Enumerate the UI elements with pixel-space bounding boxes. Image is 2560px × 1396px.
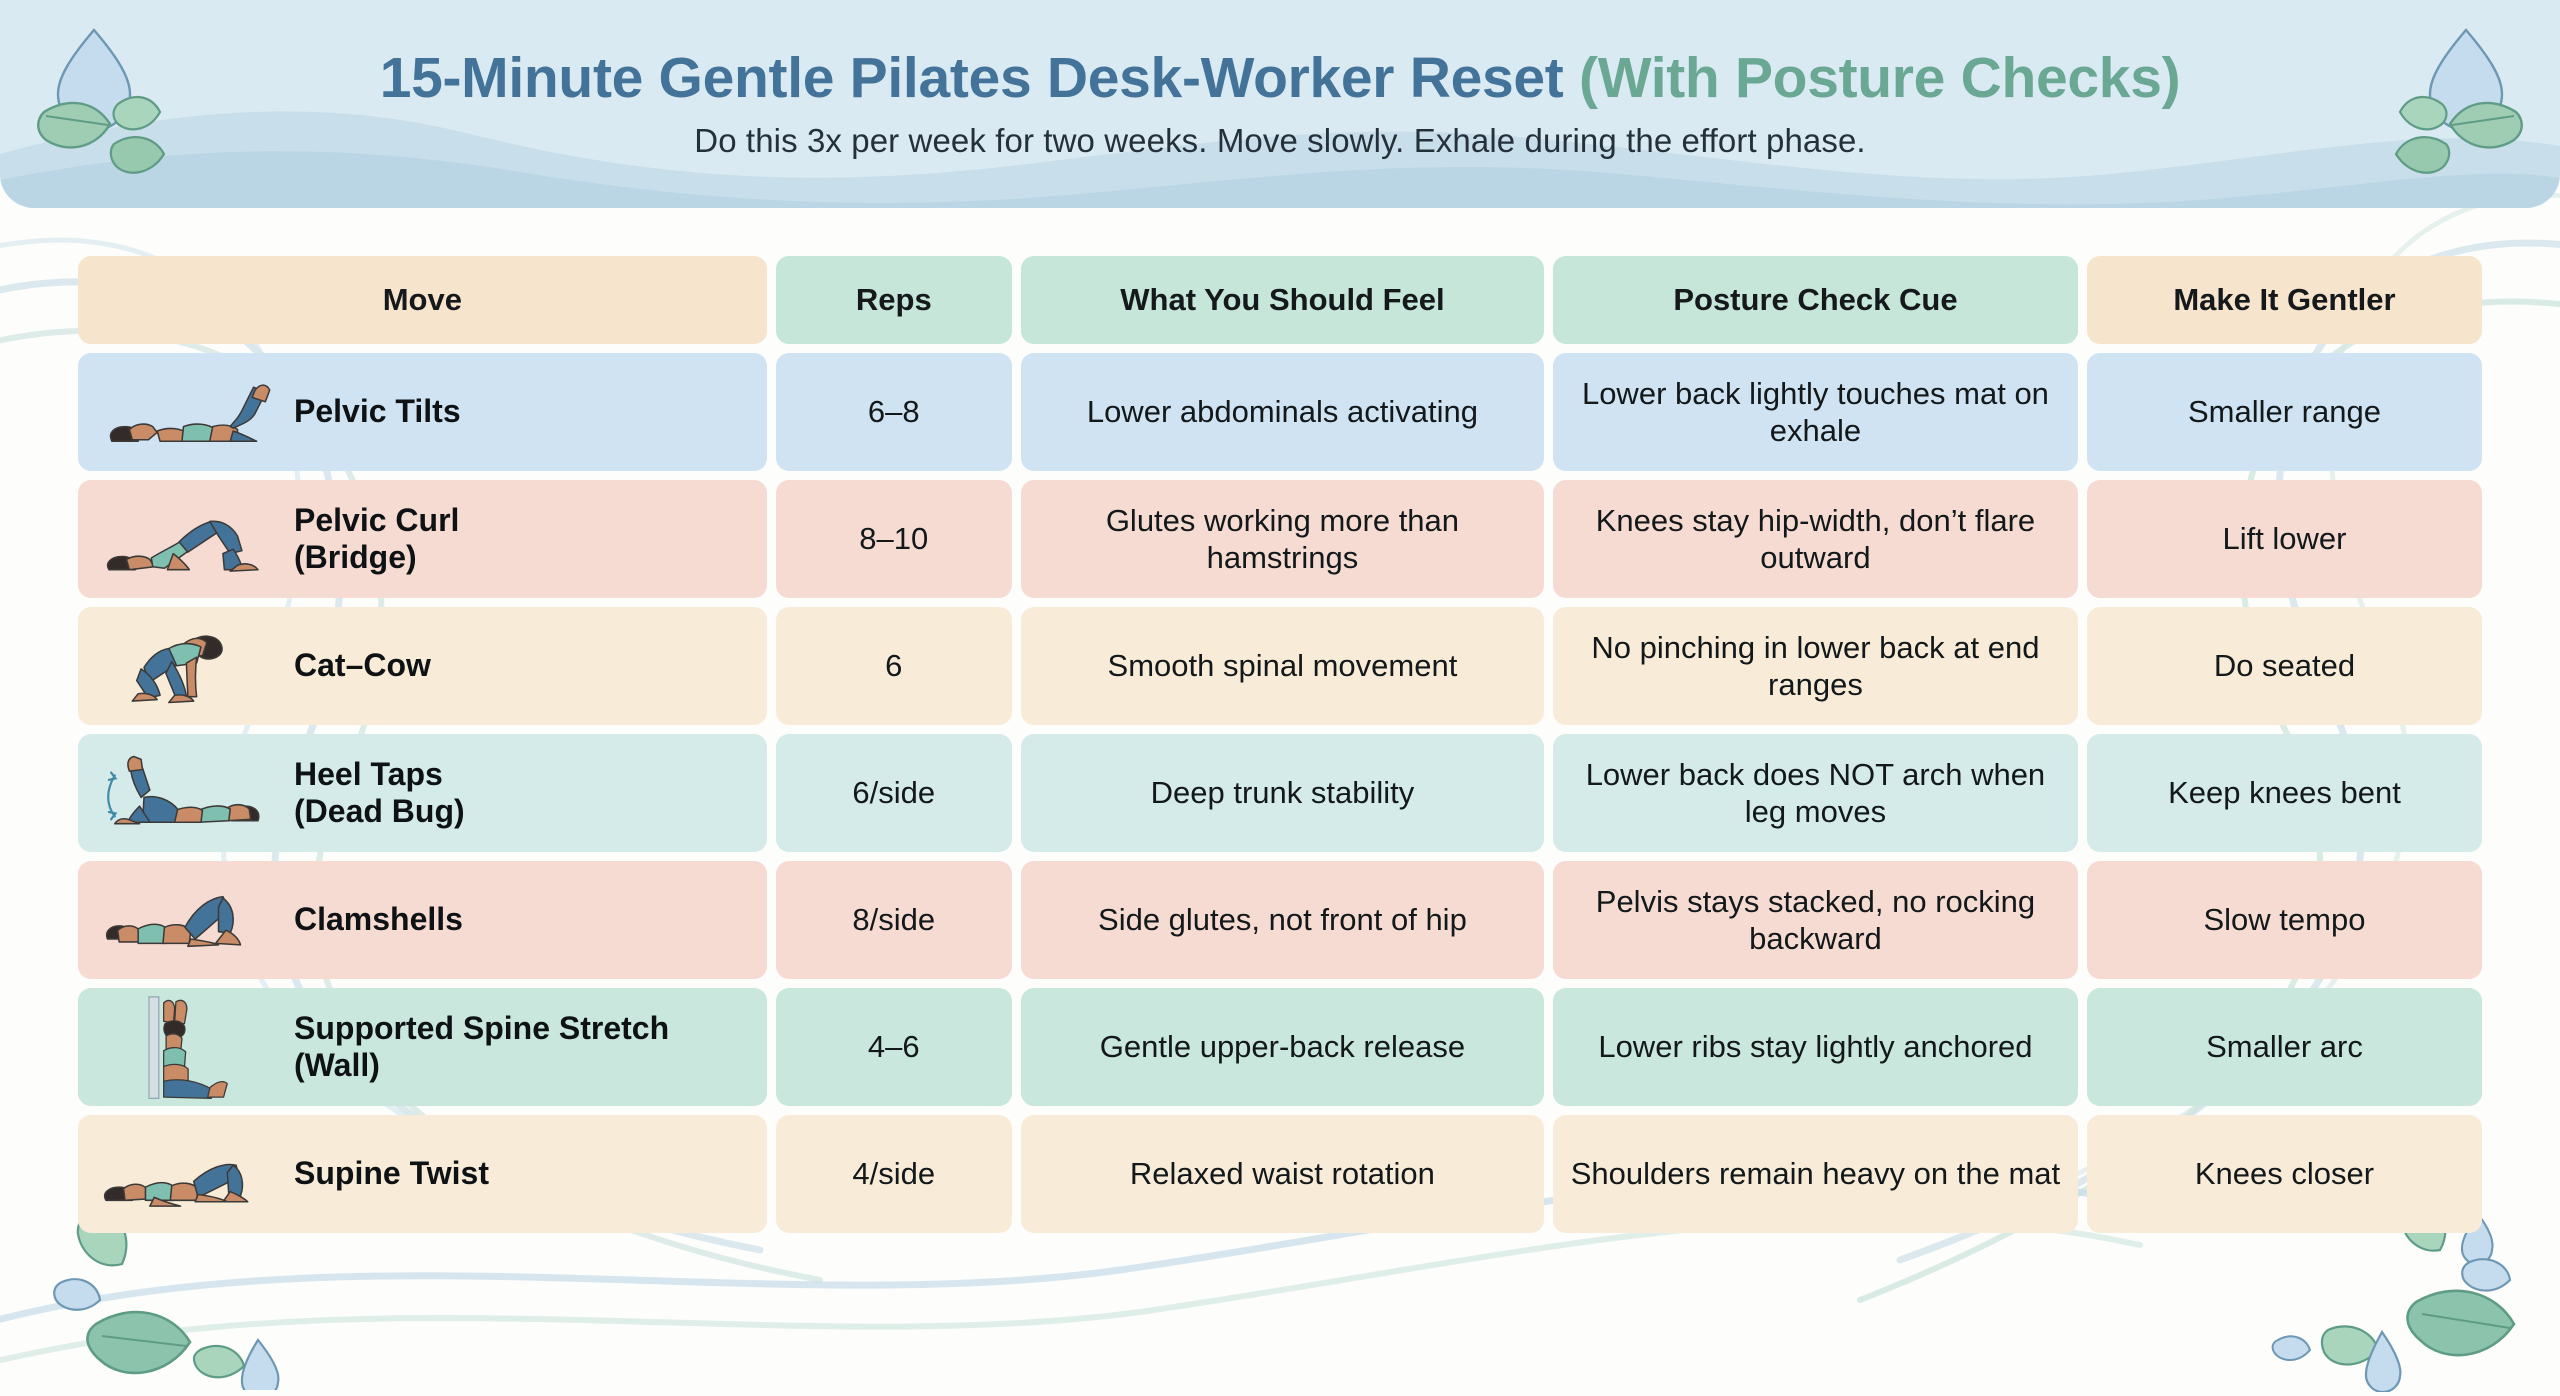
cell-feel: Smooth spinal movement [1021,607,1544,725]
cell-move: Supported Spine Stretch(Wall) [78,988,767,1106]
cell-cue: Pelvis stays stacked, no rocking backwar… [1553,861,2078,979]
cell-cue: Lower ribs stay lightly anchored [1553,988,2078,1106]
table-row: Cat–Cow6Smooth spinal movementNo pinchin… [78,607,2482,725]
cell-gentler: Keep knees bent [2087,734,2482,852]
move-name: Pelvic Tilts [280,393,461,430]
supported-spine-stretch-wall-figure-icon [84,991,280,1103]
cell-reps: 6–8 [776,353,1012,471]
cell-cue: Lower back does NOT arch when leg moves [1553,734,2078,852]
cell-feel: Glutes working more than hamstrings [1021,480,1544,598]
cell-reps-value: 6 [885,648,902,684]
cell-gentler-text: Smaller range [2188,393,2381,430]
cell-reps: 4–6 [776,988,1012,1106]
page-subtitle: Do this 3x per week for two weeks. Move … [694,122,1865,160]
column-header-move: Move [78,256,767,344]
cell-reps-value: 8/side [852,902,935,938]
cell-move: Cat–Cow [78,607,767,725]
cell-feel-text: Deep trunk stability [1151,774,1415,811]
cell-gentler: Smaller range [2087,353,2482,471]
cell-move: Clamshells [78,861,767,979]
move-name: Cat–Cow [280,647,431,684]
cell-gentler-text: Do seated [2214,647,2355,684]
cell-reps: 4/side [776,1115,1012,1233]
cell-feel: Deep trunk stability [1021,734,1544,852]
table-row: Supported Spine Stretch(Wall)4–6Gentle u… [78,988,2482,1106]
table-row: Clamshells8/sideSide glutes, not front o… [78,861,2482,979]
cell-cue-text: Pelvis stays stacked, no rocking backwar… [1567,883,2064,957]
page-title: 15-Minute Gentle Pilates Desk-Worker Res… [380,48,2181,108]
move-name: Clamshells [280,901,463,938]
cell-cue: Lower back lightly touches mat on exhale [1553,353,2078,471]
cell-feel: Relaxed waist rotation [1021,1115,1544,1233]
heel-taps-dead-bug-figure-icon [84,737,280,849]
table-row: Heel Taps(Dead Bug)6/sideDeep trunk stab… [78,734,2482,852]
pelvic-curl-bridge-figure-icon [84,483,280,595]
cell-feel-text: Glutes working more than hamstrings [1035,502,1530,576]
cell-gentler-text: Knees closer [2195,1155,2374,1192]
cell-reps-value: 8–10 [859,521,928,557]
table-body: Pelvic Tilts6–8Lower abdominals activati… [78,353,2482,1233]
table-row: Pelvic Curl(Bridge)8–10Glutes working mo… [78,480,2482,598]
cell-feel-text: Lower abdominals activating [1087,393,1478,430]
page-title-sub: (With Posture Checks) [1579,46,2180,110]
cell-move: Pelvic Curl(Bridge) [78,480,767,598]
cell-cue-text: Lower back does NOT arch when leg moves [1567,756,2064,830]
cell-gentler: Smaller arc [2087,988,2482,1106]
cell-cue-text: Knees stay hip-width, don’t flare outwar… [1567,502,2064,576]
infographic-poster: 15-Minute Gentle Pilates Desk-Worker Res… [0,0,2560,1396]
exercise-table: Move Reps What You Should Feel Posture C… [78,256,2482,1242]
cell-cue-text: No pinching in lower back at end ranges [1567,629,2064,703]
cell-gentler-text: Keep knees bent [2168,774,2401,811]
column-header-gentler: Make It Gentler [2087,256,2482,344]
cat-cow-figure-icon [84,610,280,722]
cell-gentler-text: Slow tempo [2203,901,2365,938]
cell-cue-text: Lower back lightly touches mat on exhale [1567,375,2064,449]
move-name: Heel Taps(Dead Bug) [280,756,465,831]
cell-feel: Gentle upper-back release [1021,988,1544,1106]
cell-reps: 8/side [776,861,1012,979]
cell-cue-text: Lower ribs stay lightly anchored [1598,1028,2032,1065]
cell-feel-text: Side glutes, not front of hip [1098,901,1467,938]
cell-cue: Knees stay hip-width, don’t flare outwar… [1553,480,2078,598]
move-name: Supported Spine Stretch(Wall) [280,1010,669,1085]
cell-reps-value: 4–6 [868,1029,920,1065]
cell-gentler: Do seated [2087,607,2482,725]
cell-reps-value: 6/side [852,775,935,811]
cell-gentler: Lift lower [2087,480,2482,598]
cell-cue-text: Shoulders remain heavy on the mat [1571,1155,2060,1192]
cell-feel-text: Relaxed waist rotation [1130,1155,1435,1192]
cell-cue: No pinching in lower back at end ranges [1553,607,2078,725]
move-name: Supine Twist [280,1155,489,1192]
cell-gentler: Knees closer [2087,1115,2482,1233]
move-name: Pelvic Curl(Bridge) [280,502,459,577]
pelvic-tilts-figure-icon [84,356,280,468]
cell-gentler: Slow tempo [2087,861,2482,979]
column-header-reps: Reps [776,256,1012,344]
page-title-main: 15-Minute Gentle Pilates Desk-Worker Res… [380,46,1564,110]
table-row: Supine Twist4/sideRelaxed waist rotation… [78,1115,2482,1233]
cell-feel-text: Gentle upper-back release [1100,1028,1465,1065]
cell-gentler-text: Smaller arc [2206,1028,2363,1065]
cell-reps-value: 6–8 [868,394,920,430]
cell-reps: 6 [776,607,1012,725]
supine-twist-figure-icon [84,1118,280,1230]
cell-move: Pelvic Tilts [78,353,767,471]
cell-reps-value: 4/side [852,1156,935,1192]
cell-reps: 8–10 [776,480,1012,598]
table-row: Pelvic Tilts6–8Lower abdominals activati… [78,353,2482,471]
cell-feel-text: Smooth spinal movement [1108,647,1458,684]
cell-feel: Side glutes, not front of hip [1021,861,1544,979]
clamshells-figure-icon [84,864,280,976]
cell-move: Supine Twist [78,1115,767,1233]
cell-gentler-text: Lift lower [2222,520,2346,557]
cell-feel: Lower abdominals activating [1021,353,1544,471]
column-header-feel: What You Should Feel [1021,256,1544,344]
cell-reps: 6/side [776,734,1012,852]
column-header-cue: Posture Check Cue [1553,256,2078,344]
table-header-row: Move Reps What You Should Feel Posture C… [78,256,2482,344]
cell-move: Heel Taps(Dead Bug) [78,734,767,852]
cell-cue: Shoulders remain heavy on the mat [1553,1115,2078,1233]
